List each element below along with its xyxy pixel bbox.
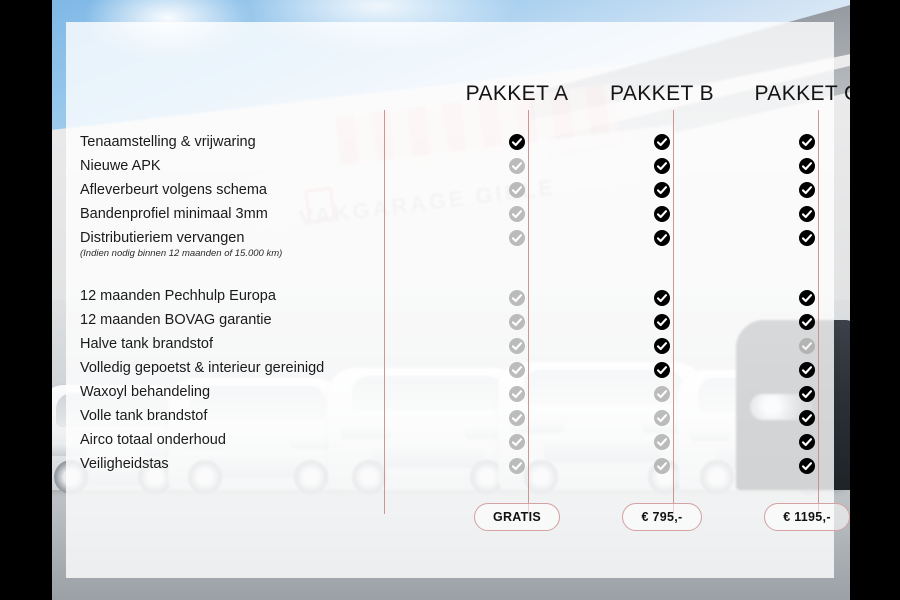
check-circle-muted-icon <box>799 338 815 354</box>
check-cell <box>441 178 593 202</box>
check-cell <box>586 226 738 250</box>
check-cell <box>586 382 738 406</box>
check-circle-muted-icon <box>509 386 525 402</box>
check-cell <box>441 334 593 358</box>
check-circle-muted-icon <box>654 410 670 426</box>
check-circle-filled-icon <box>799 182 815 198</box>
check-cell <box>441 154 593 178</box>
check-circle-filled-icon <box>799 362 815 378</box>
check-circle-muted-icon <box>509 206 525 222</box>
package-columns: PAKKET AGRATISPAKKET B€ 795,-PAKKET C€ 1… <box>66 22 834 578</box>
package-comparison-table: Tenaamstelling & vrijwaringNieuwe APKAfl… <box>66 22 834 578</box>
check-cell <box>586 406 738 430</box>
check-column-b <box>586 130 738 478</box>
check-cell <box>441 382 593 406</box>
check-note-spacer <box>441 250 593 264</box>
check-circle-filled-icon <box>799 134 815 150</box>
check-circle-filled-icon <box>799 290 815 306</box>
check-cell <box>441 286 593 310</box>
check-circle-filled-icon <box>654 362 670 378</box>
check-cell <box>441 406 593 430</box>
check-circle-filled-icon <box>654 206 670 222</box>
check-circle-filled-icon <box>654 290 670 306</box>
check-circle-filled-icon <box>799 158 815 174</box>
column-header-b: PAKKET B <box>586 82 738 106</box>
check-cell <box>586 178 738 202</box>
check-circle-filled-icon <box>654 182 670 198</box>
check-circle-muted-icon <box>509 158 525 174</box>
check-circle-muted-icon <box>509 182 525 198</box>
check-cell <box>586 310 738 334</box>
check-circle-filled-icon <box>799 230 815 246</box>
check-cell <box>586 334 738 358</box>
check-circle-muted-icon <box>509 290 525 306</box>
price-button-c[interactable]: € 1195,- <box>764 503 850 531</box>
check-circle-muted-icon <box>509 314 525 330</box>
check-cell <box>441 358 593 382</box>
check-circle-muted-icon <box>654 458 670 474</box>
check-cell <box>441 226 593 250</box>
check-cell <box>586 154 738 178</box>
screenshot-stage: VAKGARAGE GIELE <box>0 0 900 600</box>
check-circle-muted-icon <box>509 458 525 474</box>
check-circle-muted-icon <box>654 434 670 450</box>
check-cell <box>586 358 738 382</box>
check-circle-muted-icon <box>509 362 525 378</box>
check-circle-muted-icon <box>509 230 525 246</box>
check-cell <box>441 430 593 454</box>
check-circle-filled-icon <box>509 134 525 150</box>
check-circle-filled-icon <box>654 314 670 330</box>
check-circle-filled-icon <box>654 338 670 354</box>
check-cell <box>586 130 738 154</box>
check-cell <box>441 310 593 334</box>
check-circle-muted-icon <box>654 386 670 402</box>
letterbox-bar-left <box>0 0 52 600</box>
check-column-a <box>441 130 593 478</box>
check-circle-muted-icon <box>509 434 525 450</box>
check-cell <box>441 202 593 226</box>
price-cell-b: € 795,- <box>586 503 738 531</box>
column-header-a: PAKKET A <box>441 82 593 106</box>
check-cell <box>586 286 738 310</box>
check-group-spacer <box>586 264 738 286</box>
check-circle-muted-icon <box>509 410 525 426</box>
check-circle-filled-icon <box>799 314 815 330</box>
letterbox-bar-right <box>850 0 900 600</box>
check-note-spacer <box>586 250 738 264</box>
check-circle-filled-icon <box>799 386 815 402</box>
check-cell <box>586 454 738 478</box>
check-circle-muted-icon <box>509 338 525 354</box>
price-button-b[interactable]: € 795,- <box>622 503 701 531</box>
check-group-spacer <box>441 264 593 286</box>
check-circle-filled-icon <box>799 410 815 426</box>
check-cell <box>586 430 738 454</box>
check-cell <box>441 454 593 478</box>
check-circle-filled-icon <box>654 134 670 150</box>
price-cell-a: GRATIS <box>441 503 593 531</box>
check-circle-filled-icon <box>654 158 670 174</box>
check-cell <box>586 202 738 226</box>
check-circle-filled-icon <box>799 206 815 222</box>
column-divider-1 <box>384 110 385 514</box>
check-cell <box>441 130 593 154</box>
check-circle-filled-icon <box>799 434 815 450</box>
price-button-a[interactable]: GRATIS <box>474 503 560 531</box>
check-circle-filled-icon <box>799 458 815 474</box>
check-circle-filled-icon <box>654 230 670 246</box>
